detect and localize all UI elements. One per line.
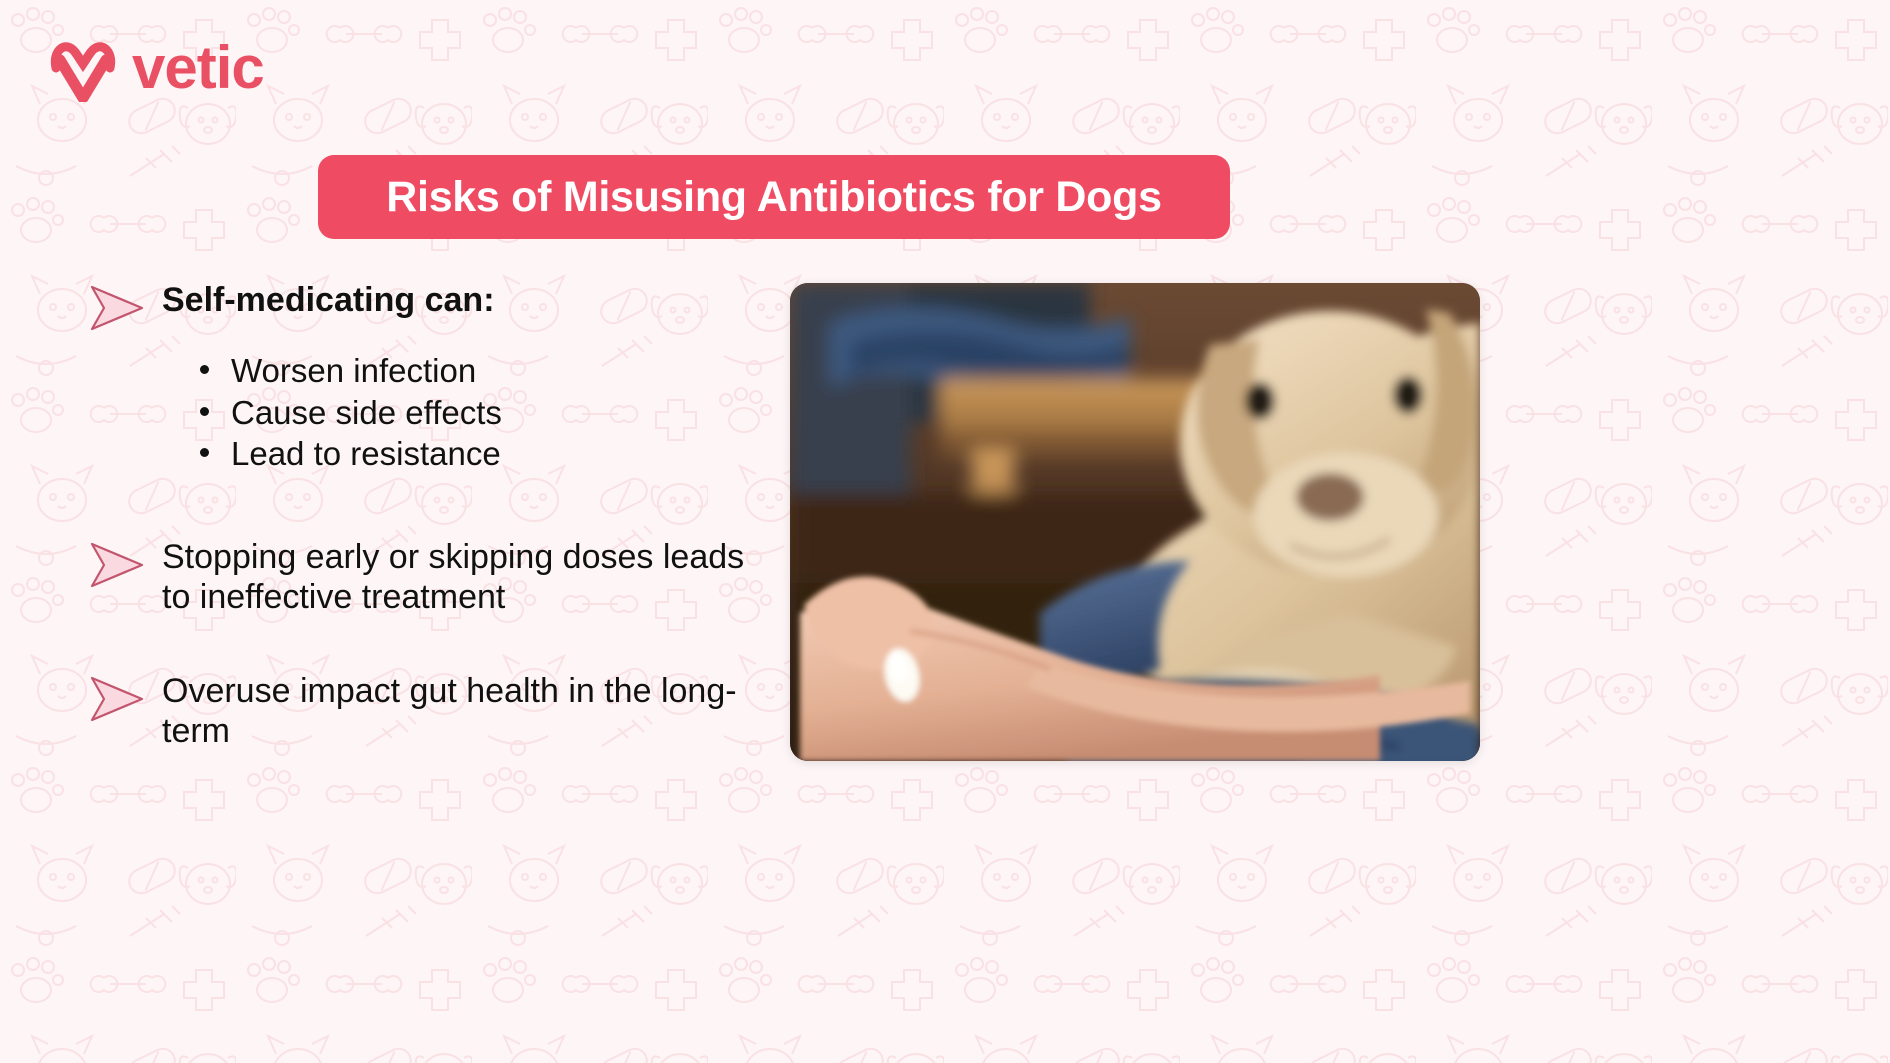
dog-with-pill-photo — [790, 283, 1480, 761]
bullet-dot-icon — [200, 407, 209, 416]
photo-content — [790, 283, 1480, 761]
sub-point-text: Cause side effects — [231, 392, 502, 434]
spacer — [88, 617, 778, 669]
point-text: Overuse impact gut health in the long-te… — [162, 669, 778, 751]
list-item: Self-medicating can: — [88, 278, 778, 334]
list-item: Stopping early or skipping doses leads t… — [88, 535, 778, 617]
spacer — [88, 475, 778, 535]
brand-name: vetic — [132, 38, 264, 98]
point-text: Stopping early or skipping doses leads t… — [162, 535, 778, 617]
sub-list: Worsen infection Cause side effects Lead… — [200, 350, 778, 475]
point-text: Self-medicating can: — [162, 278, 495, 320]
arrow-bullet-icon — [88, 539, 146, 591]
page-title: Risks of Misusing Antibiotics for Dogs — [386, 173, 1161, 222]
sub-point-text: Worsen infection — [231, 350, 476, 392]
bullet-dot-icon — [200, 365, 209, 374]
title-banner: Risks of Misusing Antibiotics for Dogs — [318, 155, 1230, 239]
brand-logo[interactable]: vetic — [48, 34, 264, 102]
list-item: Lead to resistance — [200, 433, 778, 475]
sub-point-text: Lead to resistance — [231, 433, 501, 475]
arrow-bullet-icon — [88, 673, 146, 725]
arrow-bullet-icon — [88, 282, 146, 334]
bullet-dot-icon — [200, 448, 209, 457]
points-list: Self-medicating can: Worsen infection Ca… — [88, 278, 778, 751]
list-item: Cause side effects — [200, 392, 778, 434]
list-item: Overuse impact gut health in the long-te… — [88, 669, 778, 751]
list-item: Worsen infection — [200, 350, 778, 392]
heart-logo-icon — [48, 34, 118, 102]
